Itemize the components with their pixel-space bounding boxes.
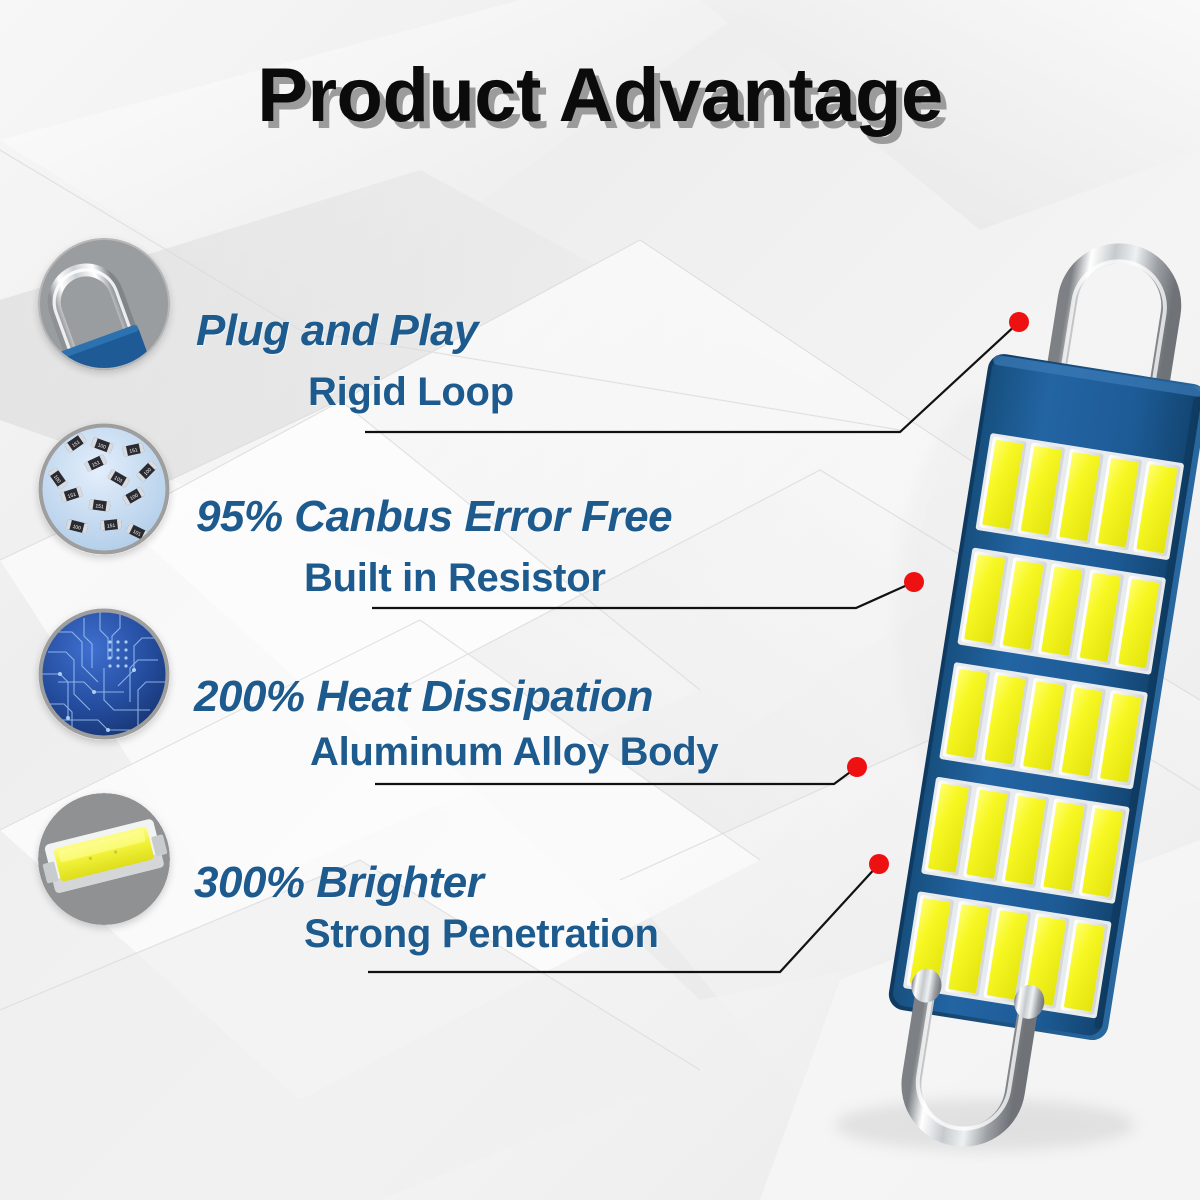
feature-icon-4-smd-led-chip-icon [38,793,170,925]
feature-1-headline: Plug and Play [196,306,478,356]
feature-icon-2-smd-resistors-icon: 151 100 151 100 151 103 100 151 151 100 … [38,423,170,555]
rigid-loop-closeup-icon [38,238,170,370]
svg-text:151: 151 [107,523,116,530]
feature-icon-3-circuit-board-icon [38,608,170,740]
circuit-board-icon [38,608,170,740]
page-title: Product Advantage [0,52,1200,139]
festoon-led-illustration [770,185,1200,1175]
feature-3-subline: Aluminum Alloy Body [310,730,718,775]
product-festoon-led-bulb [770,185,1200,1175]
infographic-canvas: Product Advantage [0,0,1200,1200]
feature-4-subline: Strong Penetration [304,912,659,957]
smd-led-chip-icon [38,793,170,925]
svg-text:151: 151 [95,503,104,510]
feature-2-headline: 95% Canbus Error Free [196,492,672,542]
feature-1-subline: Rigid Loop [308,370,514,415]
feature-2-subline: Built in Resistor [304,556,606,601]
feature-3-headline: 200% Heat Dissipation [194,672,653,722]
feature-icon-1-rigid-loop-closeup-icon [38,238,170,370]
smd-resistors-icon: 151 100 151 100 151 103 100 151 151 100 … [38,423,170,555]
feature-4-headline: 300% Brighter [194,858,483,908]
